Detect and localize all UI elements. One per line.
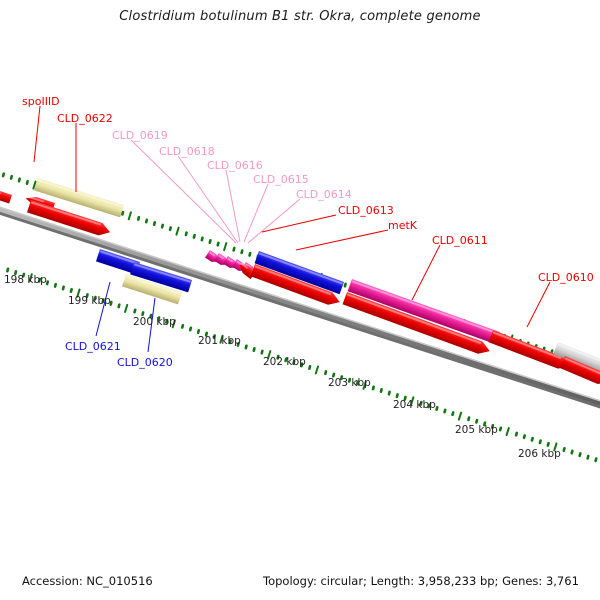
ruler-tick-label: 201 kbp: [198, 336, 241, 347]
ruler-tick-label: 202 kbp: [263, 357, 306, 368]
label-leader-line: [244, 184, 268, 242]
gene-label-cld_0618[interactable]: CLD_0618: [159, 146, 215, 157]
gene-label-cld_0613[interactable]: CLD_0613: [338, 205, 394, 216]
label-leader-line: [34, 106, 40, 162]
gene-label-cld_0620[interactable]: CLD_0620: [117, 357, 173, 368]
gene-label-cld_0616[interactable]: CLD_0616: [207, 160, 263, 171]
label-leader-lines: [34, 106, 550, 352]
label-leader-line: [296, 230, 388, 250]
label-leader-line: [527, 282, 550, 327]
label-leader-line: [248, 199, 300, 243]
ruler-tick-label: 200 kbp: [133, 317, 176, 328]
ruler-tick-label: 205 kbp: [455, 425, 498, 436]
gene-label-cld_0619[interactable]: CLD_0619: [112, 130, 168, 141]
gene-label-cld_0615[interactable]: CLD_0615: [253, 174, 309, 185]
label-leader-line: [96, 282, 110, 336]
label-leader-line: [262, 215, 336, 232]
gene-label-cld_0611[interactable]: CLD_0611: [432, 235, 488, 246]
gene-feature[interactable]: [0, 187, 12, 204]
label-leader-line: [412, 245, 440, 300]
gene-label-cld_0614[interactable]: CLD_0614: [296, 189, 352, 200]
gene-label-metk[interactable]: metK: [388, 220, 417, 231]
genome-viewer-canvas[interactable]: Clostridium botulinum B1 str. Okra, comp…: [0, 0, 600, 600]
footer-topology: Topology: circular; Length: 3,958,233 bp…: [263, 574, 579, 588]
ruler-tick-label: 199 kbp: [68, 296, 111, 307]
gene-label-cld_0622[interactable]: CLD_0622: [57, 113, 113, 124]
ruler-tick-label: 198 kbp: [4, 275, 47, 286]
gene-label-spoiiid[interactable]: spoIIID: [22, 96, 60, 107]
gene-label-cld_0621[interactable]: CLD_0621: [65, 341, 121, 352]
label-leader-line: [226, 170, 240, 242]
ruler-tick-label: 206 kbp: [518, 449, 561, 460]
footer-accession: Accession: NC_010516: [22, 574, 153, 588]
ruler-tick-label: 203 kbp: [328, 378, 371, 389]
ruler-tick-label: 204 kbp: [393, 400, 436, 411]
gene-label-cld_0610[interactable]: CLD_0610: [538, 272, 594, 283]
